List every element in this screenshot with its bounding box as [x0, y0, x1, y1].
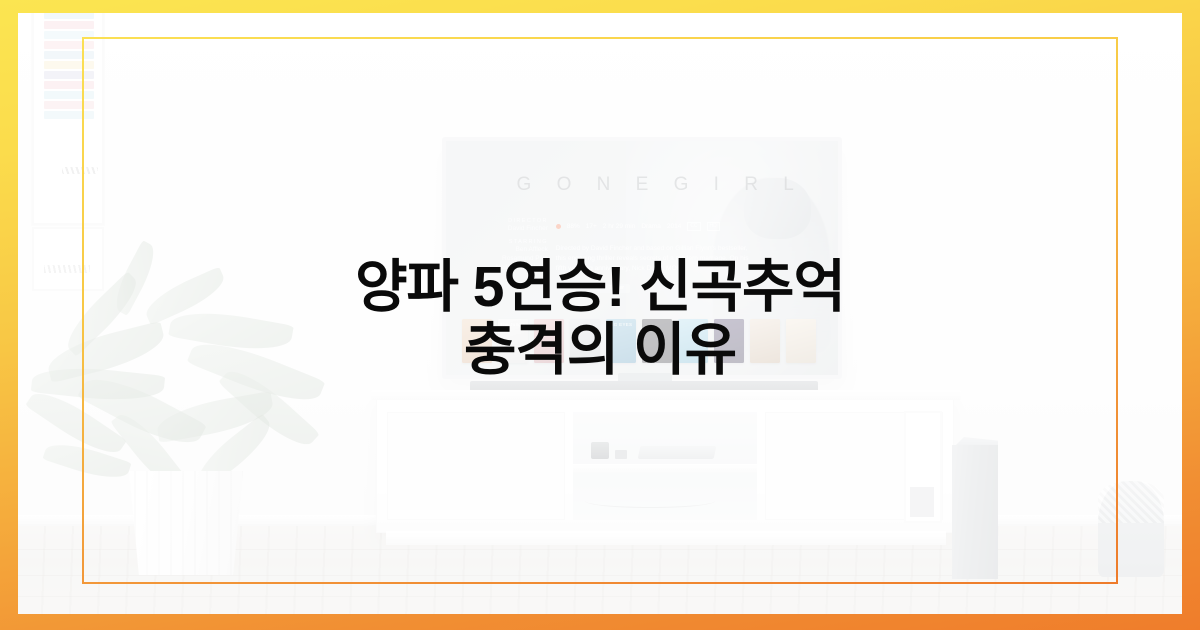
- rotten-tomato-icon: [556, 224, 561, 229]
- wall-frame-right: [904, 411, 942, 523]
- poster-10[interactable]: [786, 319, 816, 363]
- movie-meta-row: 88% 17+ 2 hr 29 min Drama 2014 CC HD: [556, 222, 720, 231]
- meta-score: 88%: [567, 223, 580, 230]
- poster-2[interactable]: The Jungle: [498, 319, 528, 363]
- meta-runtime: 2 hr 29 min: [603, 223, 636, 230]
- art-stripe-5: [44, 51, 94, 59]
- poster-8[interactable]: [714, 319, 744, 363]
- poster-5[interactable]: BIG EYES: [606, 319, 636, 363]
- console-device-small: [615, 450, 627, 459]
- television: G O N E G I R L DIRECTOR David Fincher S…: [442, 137, 842, 379]
- starring-value: Ben Affleck Rosamund Pike Neil Patrick H…: [470, 245, 548, 273]
- poster-2-label: The Jungle: [498, 322, 528, 327]
- art-stripes: [44, 13, 94, 159]
- wall-art-striped: [32, 13, 104, 225]
- console-cabinet-left: [387, 412, 565, 520]
- poster-6[interactable]: [642, 319, 672, 363]
- console-top-panel: [371, 390, 961, 400]
- poster-9[interactable]: [750, 319, 780, 363]
- meta-year: 2014: [667, 223, 681, 230]
- description-text: Directed by David Fincher and based on G…: [556, 245, 749, 272]
- director-value: David Fincher: [470, 224, 548, 233]
- art-stripe-4: [44, 41, 94, 49]
- console-cable: [585, 494, 715, 508]
- tv-action-buttons: Add to List Play Trailer: [556, 284, 630, 293]
- art-signature: [62, 167, 98, 174]
- poster-1[interactable]: [462, 319, 492, 363]
- movie-title: G O N E G I R L: [517, 174, 804, 196]
- art-stripe-1: [44, 13, 94, 19]
- poster-carousel: The JungleBIG EYES: [462, 319, 816, 363]
- floor-speaker: [952, 445, 998, 579]
- meta-rating: 17+: [586, 223, 597, 230]
- art-stripe-2: [44, 21, 94, 29]
- poster-5-label: BIG EYES: [606, 322, 636, 327]
- meta-hd-badge: HD: [707, 222, 720, 231]
- movie-credits: DIRECTOR David Fincher STARRING Ben Affl…: [470, 218, 548, 273]
- art-stripe-3: [44, 31, 94, 39]
- meta-cc-badge: CC: [687, 222, 700, 231]
- art-stripe-11: [44, 111, 94, 119]
- add-to-list-button[interactable]: Add to List: [556, 285, 582, 291]
- tv-screen: G O N E G I R L DIRECTOR David Fincher S…: [446, 141, 838, 375]
- woven-basket: [1098, 481, 1164, 577]
- more-link[interactable]: MORE: [666, 265, 686, 272]
- plant-pot: [124, 471, 248, 575]
- play-trailer-button[interactable]: Play Trailer: [590, 284, 630, 293]
- potted-plant: [38, 243, 338, 573]
- art-stripe-8: [44, 81, 94, 89]
- console-plinth: [386, 531, 946, 545]
- movie-description: Directed by David Fincher and based on G…: [556, 244, 760, 275]
- art-stripe-10: [44, 101, 94, 109]
- thumbnail-card: G O N E G I R L DIRECTOR David Fincher S…: [0, 0, 1200, 630]
- art-stripe-9: [44, 91, 94, 99]
- art-stripe-7: [44, 71, 94, 79]
- console-device-box: [591, 442, 609, 459]
- tv-console: [376, 397, 954, 533]
- art-stripe-6: [44, 61, 94, 69]
- poster-7[interactable]: [678, 319, 708, 363]
- poster-4[interactable]: [570, 319, 600, 363]
- console-device-laptop: [638, 446, 717, 459]
- room-photo: G O N E G I R L DIRECTOR David Fincher S…: [18, 13, 1182, 614]
- console-shelf-divider: [573, 464, 757, 473]
- poster-3[interactable]: [534, 319, 564, 363]
- meta-genre: Drama: [641, 223, 661, 230]
